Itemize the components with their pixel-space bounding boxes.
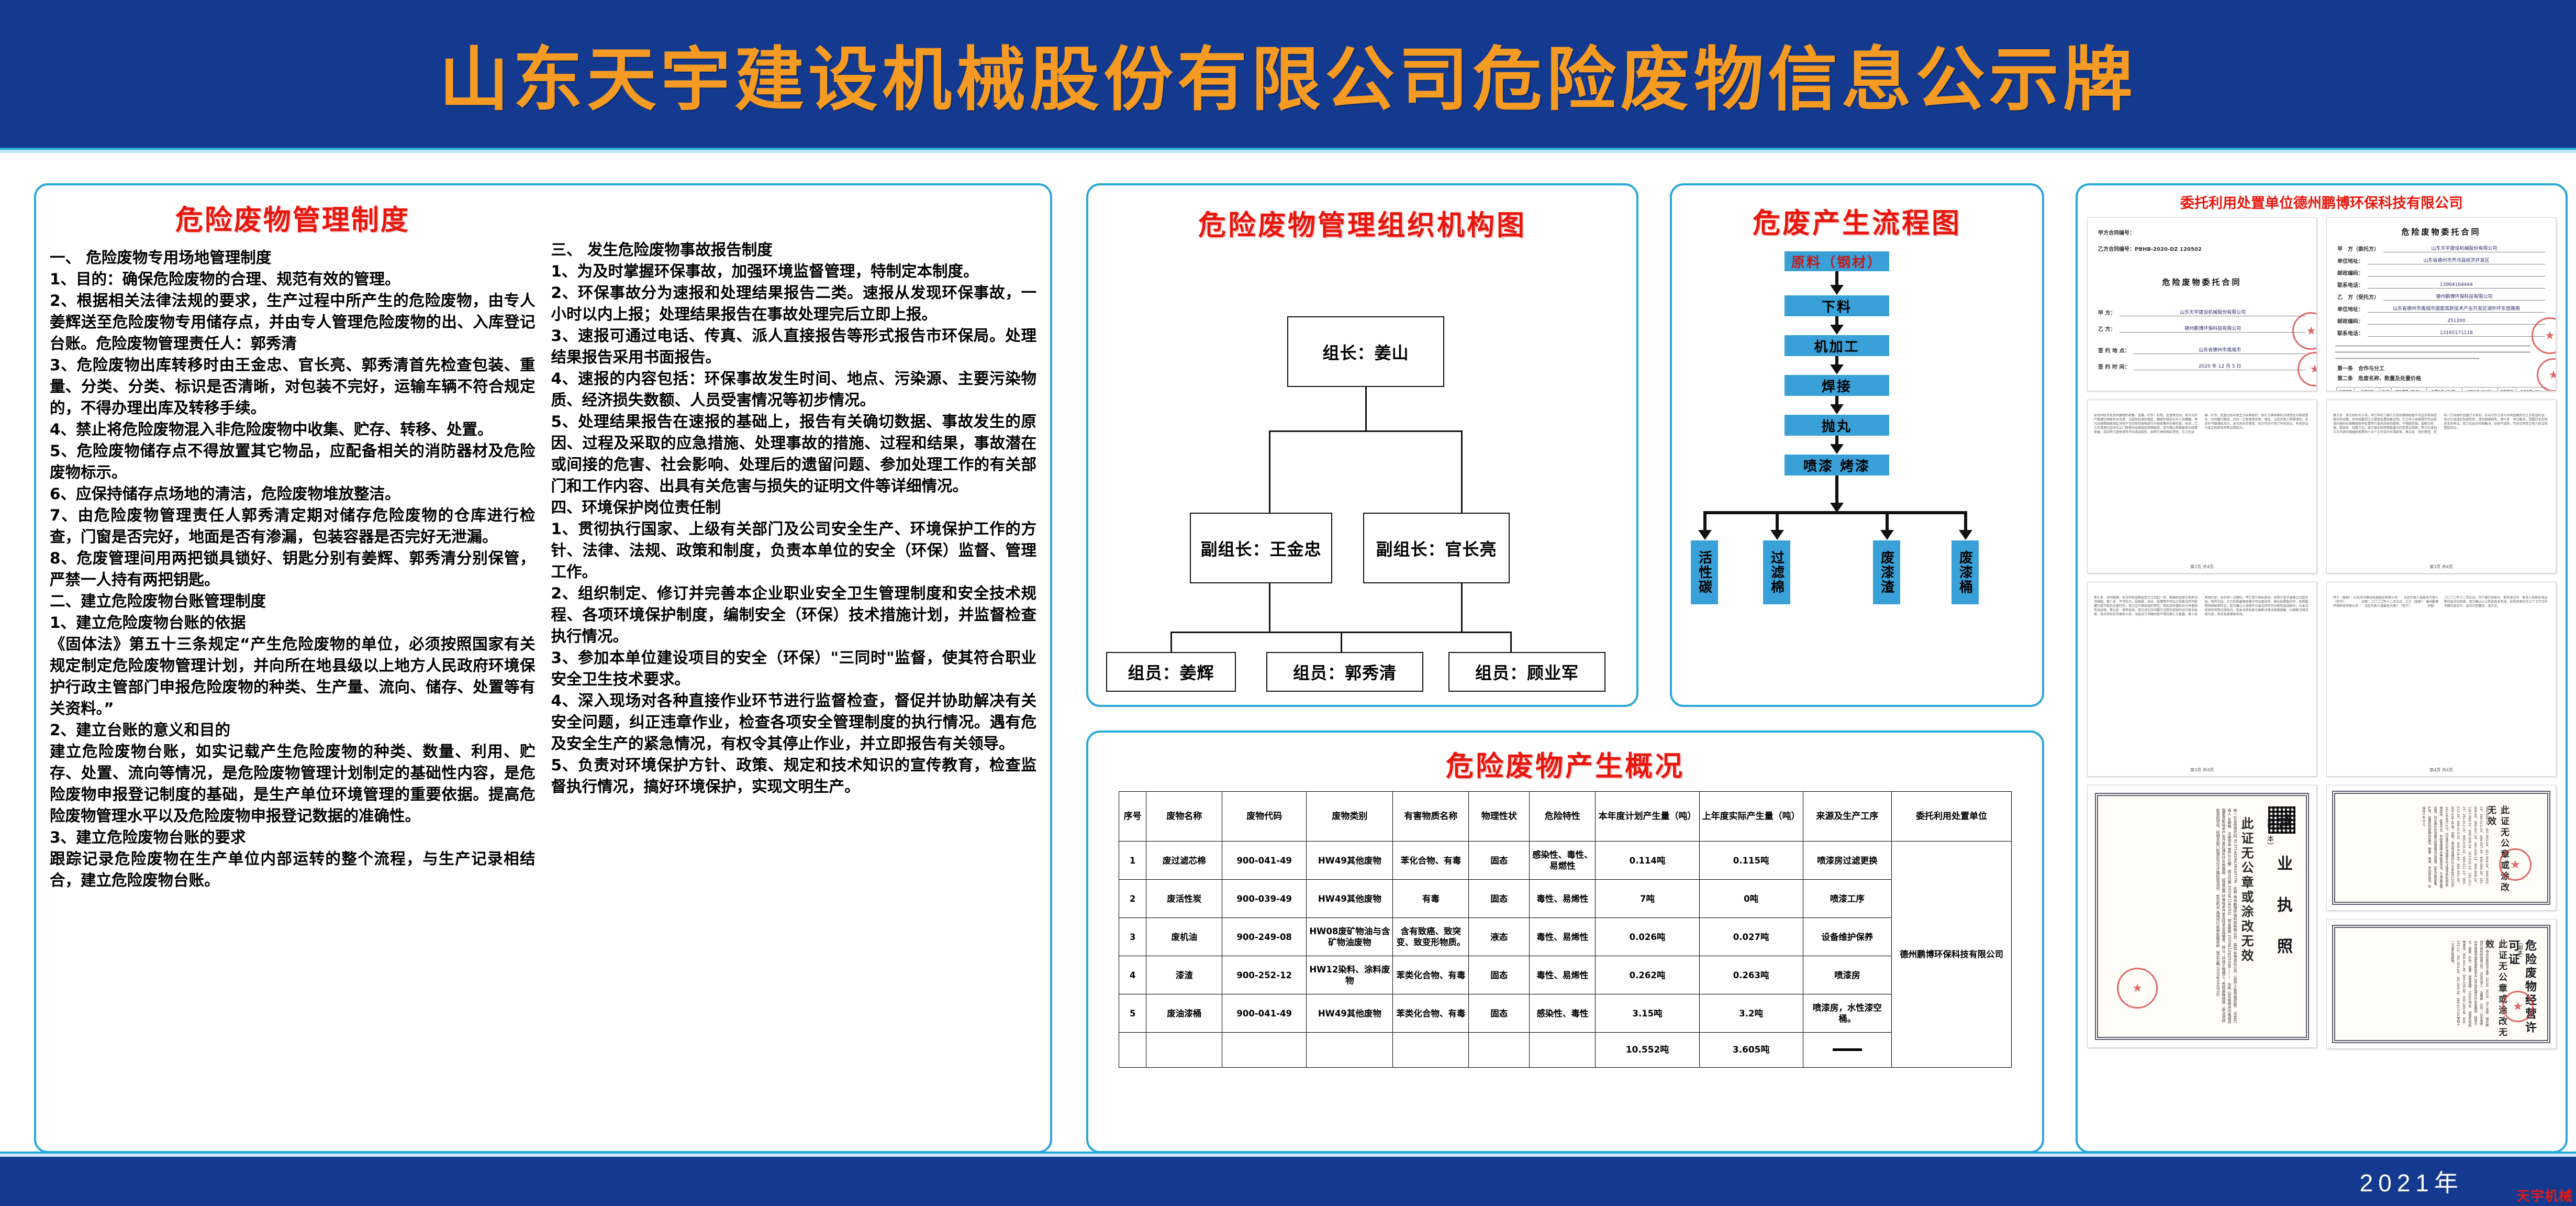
flow-arrow-icon [1698, 530, 1712, 540]
waste-table-head: 序号 废物名称 废物代码 废物类别 有害物质名称 物理性状 危险特性 本年度计划… [1119, 792, 2012, 842]
flow-output-paint-slag: 废漆渣 [1873, 540, 1900, 604]
cell-category: HW49其他废物 [1307, 842, 1393, 880]
rules-para: 1、建立危险废物台账的依据 [50, 612, 536, 634]
text-line [2335, 358, 2479, 359]
flow-arrow-icon [1830, 285, 1844, 295]
rules-column-left: 危险废物管理制度 一、 危险废物专用场地管理制度 1、目的：确保危险废物的合理、… [50, 191, 536, 1151]
cell-code: 900-252-12 [1222, 956, 1307, 994]
rules-para: 5、处理结果报告在速报的基础上，报告有关确切数据、事故发生的原因、过程及采取的应… [551, 411, 1037, 497]
col-hazard: 危险特性 [1530, 792, 1596, 842]
flow-step-cutting: 下料 [1785, 295, 1889, 316]
cell-state: 液态 [1469, 918, 1530, 956]
table-row: 5 废油漆桶 900-041-49 HW49其他废物 苯类化合物、有毒 固态 感… [1119, 994, 2012, 1033]
document-contract-page-1[interactable]: 危险废物委托合同 甲 方（委托方）山东天宇建设机械股份有限公司 单位地址：山东省… [2326, 217, 2556, 391]
footer-brand: 天宇机械 [2516, 1186, 2573, 1205]
public-information-board: 山东天宇建设机械股份有限公司危险废物信息公示牌 危险废物管理制度 一、 危险废物… [0, 0, 2576, 1206]
cell-hazard: 毒性、易烯性 [1530, 880, 1596, 918]
field-label: 单位地址： [2337, 257, 2363, 264]
rules-para: 跟踪记录危险废物在生产单位内部运转的整个流程，与生产记录相结合，建立危险废物台账… [50, 848, 536, 891]
document-permit-stack: 此证无公章或涂改无效 900-000-34、261-003-04、261-004… [2326, 785, 2556, 1049]
permit-subtitle: （副本） [2515, 939, 2523, 960]
cell-total-plan: 10.552吨 [1596, 1033, 1699, 1068]
col-state: 物理性状 [1469, 792, 1530, 842]
org-chart-title: 危险废物管理组织机构图 [1088, 203, 1636, 243]
col-name: 废物名称 [1146, 792, 1222, 842]
cell-substance: 苯化合物、有毒 [1393, 842, 1469, 880]
cell-source: 喷漆房，水性漆空桶。 [1803, 994, 1891, 1033]
table-row: 2 废活性炭 900-039-49 HW49其他废物 有毒 固态 毒性、易烯性 … [1119, 880, 2012, 918]
cell-code: 900-041-49 [1222, 994, 1307, 1033]
rules-para: 《固体法》第五十三条规定“产生危险废物的单位，必须按照国家有关规定制定危险废物管… [50, 634, 536, 720]
flow-connector [1703, 511, 1967, 514]
rules-para: 2、组织制定、修订并完善本企业职业安全卫生管理制度和安全技术规程、各项环境保护制… [551, 583, 1037, 647]
org-node-deputy-2: 副组长：官长亮 [1363, 513, 1510, 583]
flow-step-painting: 喷漆 烤漆 [1785, 455, 1889, 475]
party-a-label: 甲 方： [2098, 308, 2115, 316]
field-label: 邮政编码： [2337, 317, 2363, 325]
cell-plan: 0.026吨 [1596, 918, 1699, 956]
field-value: 13964164444 [2368, 282, 2545, 289]
cell-code: 900-039-49 [1222, 880, 1307, 918]
rules-title: 危险废物管理制度 [50, 198, 536, 238]
cell-total-actual: 3.605吨 [1699, 1033, 1803, 1068]
document-permit-notes[interactable]: 此证无公章或涂改无效 900-000-34、261-003-04、261-004… [2326, 785, 2556, 911]
rules-para: 1、目的：确保危险废物的合理、规范有效的管理。 [50, 269, 536, 290]
cell-category: HW49其他废物 [1307, 880, 1393, 918]
table-header-row: 危废名称 危废代码 形 态 预处置量（吨/年） 处置价格（元/吨） 运输价格（元… [2337, 388, 2546, 392]
org-connector [1365, 387, 1367, 431]
board-footer: 2021年 天宇机械 [0, 1157, 2576, 1206]
field-value: 山东天宇建设机械股份有限公司 [2383, 246, 2545, 252]
rules-para: 3、建立危险废物台账的要求 [50, 827, 536, 848]
flow-arrow-icon [1830, 444, 1844, 454]
org-node-member-2: 组员：郭秀清 [1266, 652, 1423, 692]
org-connector [1510, 632, 1512, 654]
flow-chart-title: 危废产生流程图 [1672, 201, 2042, 241]
org-connector [1170, 632, 1172, 654]
cell-substance: 含有致癌、致突变、致变形物质。 [1393, 918, 1469, 956]
text-line [2335, 351, 2530, 353]
mini-col: 预处置量（吨/年） [2391, 388, 2427, 392]
waste-table-body: 1 废过滤芯棉 900-041-49 HW49其他废物 苯化合物、有毒 固态 感… [1119, 842, 2012, 1068]
org-chart-canvas: 组长：姜山 副组长：王金忠 副组长：官长亮 组员：姜辉 组员：郭秀清 组员：顾业… [1088, 243, 1636, 702]
rules-para: 7、由危险废物管理责任人郭秀清定期对储存危险废物的仓库进行检查，门窗是否完好，地… [50, 505, 536, 548]
document-hazardous-waste-permit[interactable]: 危险废物经营许可证 （副本） 此证无公章或涂改无效 编号：德州危废经许证第（20… [2326, 919, 2556, 1049]
cell-state: 固态 [1469, 956, 1530, 994]
table-total-row: 10.552吨 3.605吨 [1119, 1033, 2012, 1068]
rules-column-right: 三、 发生危险废物事故报告制度 1、为及时掌握环保事故，加强环境监督管理，特制定… [551, 191, 1037, 1151]
cell-actual: 0.115吨 [1699, 842, 1803, 880]
contract-cover-title: 危险废物委托合同 [2088, 276, 2316, 287]
permit-fields: 编号：德州危废经许证第（2020）001号 法人名称：德州鹏博环保科技有限公司 … [2344, 941, 2490, 1027]
cell-state: 固态 [1469, 842, 1530, 880]
org-connector [1269, 430, 1463, 432]
contract-page1-title: 危险废物委托合同 [2327, 226, 2556, 237]
mini-col: 危废名称 [2337, 388, 2355, 392]
col-source: 来源及生产工序 [1803, 792, 1891, 842]
document-business-license[interactable]: 营 业 执 照 （副 本） 此证无公章或涂改无效 统一社会信用代码 913714… [2087, 785, 2317, 1048]
sign-place-value: 山东省德州市禹城市 [2134, 347, 2306, 354]
text-line [2335, 345, 2530, 347]
cell-source: 喷漆房过滤更换 [1803, 842, 1891, 880]
documents-panel-title: 委托利用处置单位德州鹏博环保科技有限公司 [2078, 192, 2566, 212]
cell-code: 900-041-49 [1222, 842, 1307, 880]
cell-no: 1 [1119, 842, 1146, 880]
sign-date-label: 签 约 时 间： [2098, 362, 2129, 370]
mini-col: 运输价格（元/次） [2462, 388, 2498, 392]
contract-no-b-label: 乙方合同编号：PBHB-2020-DZ 120502 [2098, 245, 2202, 252]
table-row: 1 废过滤芯棉 900-041-49 HW49其他废物 苯化合物、有毒 固态 感… [1119, 842, 2012, 880]
cell-no: 3 [1119, 918, 1146, 956]
footer-year: 2021年 [2360, 1164, 2463, 1199]
field-label: 邮政编码： [2337, 269, 2363, 276]
cell-hazard: 感染性、毒性、易燃性 [1530, 842, 1596, 880]
cell-hazard: 感染性、毒性 [1530, 994, 1596, 1033]
rules-para: 四、环境保护岗位责任制 [551, 497, 1037, 518]
cell-actual: 0.027吨 [1699, 918, 1803, 956]
rules-para: 5、负责对环境保护方针、政策、规定和技术知识的宣传教育，检查监督执行情况，搞好环… [551, 755, 1037, 798]
rules-para: 4、深入现场对各种直接作业环节进行监督检查，督促并协助解决有关安全问题，纠正违章… [551, 690, 1037, 755]
cell-empty [1307, 1033, 1393, 1068]
field-label: 甲 方（委托方） [2337, 245, 2379, 252]
waste-table: 序号 废物名称 废物代码 废物类别 有害物质名称 物理性状 危险特性 本年度计划… [1119, 791, 2012, 1068]
flow-chart-canvas: 原料（钢材） 下料 机加工 焊接 抛丸 喷漆 烤漆 [1672, 241, 2042, 705]
document-contract-cover[interactable]: 甲方合同编号： 乙方合同编号：PBHB-2020-DZ 120502 危险废物委… [2087, 217, 2317, 391]
documents-grid: 甲方合同编号： 乙方合同编号：PBHB-2020-DZ 120502 危险废物委… [2078, 217, 2566, 1056]
party-b-label: 乙 方： [2098, 325, 2115, 333]
cell-name: 漆渣 [1146, 956, 1222, 994]
red-seal-icon [2298, 352, 2317, 386]
document-contract-page-3[interactable]: 第三条 双方权利与义务。甲方有权了解乙方危险废物经营许可证的核准范围与有效期，并… [2326, 400, 2556, 573]
cell-empty [1393, 1033, 1469, 1068]
cell-hazard: 毒性、易烯性 [1530, 956, 1596, 994]
board-header: 山东天宇建设机械股份有限公司危险废物信息公示牌 [0, 0, 2576, 148]
permit-notes-frame: 此证无公章或涂改无效 900-000-34、261-003-04、261-004… [2332, 791, 2550, 905]
rules-para: 1、为及时掌握环保事故，加强环境监督管理，特制定本制度。 [551, 261, 1037, 282]
rules-para: 2、环保事故分为速报和处理结果报告二类。速报从发现环保事故，一小时以内上报；处理… [551, 282, 1037, 325]
rules-para: 二、建立危险废物台账管理制度 [50, 591, 536, 612]
cell-empty [1530, 1033, 1596, 1068]
document-page-number: 第3页 共4页 [2088, 767, 2316, 773]
mini-col: 形 态 [2380, 388, 2391, 392]
party-a-value: 山东天宇建设机械股份有限公司 [2120, 309, 2306, 316]
rules-para: 三、 发生危险废物事故报告制度 [551, 239, 1037, 261]
document-contract-page-4[interactable]: 第七条 合同期限。本合同有效期自签订之日起一年，期满后如双方无异议可顺延。第八条… [2087, 582, 2317, 777]
rules-para: 3、速报可通过电话、传真、派人直接报告等形式报告市环保局。处理结果报告采用书面报… [551, 325, 1037, 368]
field-value: 德州鹏博环保科技有限公司 [2383, 294, 2545, 301]
rules-para: 3、危险废物出库转移时由王金忠、官长亮、郭秀清首先检查包装、重量、分类、分类、标… [50, 355, 536, 419]
field-value: 13165171118 [2368, 330, 2545, 337]
license-title: 营 业 执 照 [2271, 814, 2294, 957]
org-connector [1269, 583, 1270, 633]
table-row: 3 废机油 900-249-08 HW08废矿物油与含矿物油废物 含有致癌、致突… [1119, 918, 2012, 956]
field-label: 乙 方（受托方） [2337, 293, 2379, 301]
rules-para: 一、 危险废物专用场地管理制度 [50, 247, 536, 269]
flow-step-machining: 机加工 [1785, 335, 1889, 356]
footer-stripe [0, 1152, 2576, 1157]
red-seal-icon [2292, 312, 2317, 350]
rules-para: 4、速报的内容包括：环保事故发生时间、地点、污染源、主要污染物质、经济损失数额、… [551, 368, 1037, 411]
cell-empty [1222, 1033, 1307, 1068]
rules-para: 8、危废管理间用两把锁具锁好、钥匙分别有姜辉、郭秀清分别保管，严禁一人持有两把钥… [50, 548, 536, 591]
waste-overview-panel: 危险废物产生概况 序号 废物名称 废物代码 废物类别 有害物质名称 物理性状 危… [1086, 731, 2044, 1153]
party-b-value: 德州鹏博环保科技有限公司 [2120, 326, 2306, 333]
field-label: 单位地址： [2337, 305, 2363, 313]
cell-empty [1469, 1033, 1530, 1068]
rules-para: 建立危险废物台账，如实记载产生危险废物的种类、数量、利用、贮存、处置、流向等情况… [50, 741, 536, 827]
cell-category: HW08废矿物油与含矿物油废物 [1307, 918, 1393, 956]
cell-source: 喷漆房 [1803, 956, 1891, 994]
cell-plan: 3.15吨 [1596, 994, 1699, 1033]
flow-step-welding: 焊接 [1785, 375, 1889, 396]
document-body-text: 第三条 双方权利与义务。甲方有权了解乙方危险废物经营许可证的核准范围与有效期，并… [2333, 414, 2549, 567]
col-plan: 本年度计划产生量（吨） [1596, 792, 1699, 842]
cell-state: 固态 [1469, 880, 1530, 918]
field-label: 联系电话： [2337, 281, 2363, 289]
cell-category: HW49其他废物 [1307, 994, 1393, 1033]
mini-col: 危废代码 [2355, 388, 2380, 392]
cell-substance: 有毒 [1393, 880, 1469, 918]
cell-actual: 0吨 [1699, 880, 1803, 918]
permit-notes-text: 900-000-34、261-003-04、261-004-04、900-005… [2344, 806, 2490, 889]
table-row: 4 漆渣 900-252-12 HW12染料、涂料废物 苯类化合物、有毒 固态 … [1119, 956, 2012, 994]
col-code: 废物代码 [1222, 792, 1307, 842]
cell-no: 2 [1119, 880, 1146, 918]
cell-actual: 3.2吨 [1699, 994, 1803, 1033]
page-title: 山东天宇建设机械股份有限公司危险废物信息公示牌 [439, 24, 2137, 124]
license-subtitle: （副 本） [2265, 814, 2274, 849]
license-frame: 营 业 执 照 （副 本） 此证无公章或涂改无效 统一社会信用代码 913714… [2095, 793, 2309, 1040]
rules-para: 6、应保持储存点场地的清洁，危险废物堆放整洁。 [50, 483, 536, 505]
rules-text-right: 三、 发生危险废物事故报告制度 1、为及时掌握环保事故，加强环境监督管理，特制定… [551, 239, 1037, 798]
sign-place-label: 签 约 地 点： [2098, 346, 2129, 354]
flow-chart-panel: 危废产生流程图 原料（钢材） 下料 机加工 焊接 抛丸 喷漆 烤漆 [1670, 183, 2044, 707]
contract-no-a-label: 甲方合同编号： [2098, 228, 2135, 236]
clause-2-label: 第二条 危废名称、数量及处置价格 [2337, 374, 2421, 382]
document-contract-page-2[interactable]: 本合同所涉及危险废物的收集、运输、贮存、利用、处置等活动，双方均应严格遵守国家有… [2087, 400, 2317, 573]
cell-substance: 苯类化合物、有毒 [1393, 956, 1469, 994]
cell-hazard: 毒性、易烯性 [1530, 918, 1596, 956]
col-substance: 有害物质名称 [1393, 792, 1469, 842]
org-connector [1461, 632, 1512, 633]
cell-code: 900-249-08 [1222, 918, 1307, 956]
org-connector [1341, 632, 1342, 654]
waste-table-title: 危险废物产生概况 [1088, 744, 2042, 784]
cell-total-source [1803, 1033, 1891, 1068]
cell-empty [1146, 1033, 1222, 1068]
document-page-number: 第2页 共4页 [2088, 564, 2316, 570]
field-value: 山东省德州市禹城市国家高新技术产业开发区湖外环东首路南 [2368, 306, 2545, 313]
cell-category: HW12染料、涂料废物 [1307, 956, 1393, 994]
field-value: 山东省德州市齐河县经济开发区 [2368, 258, 2545, 264]
field-value: 251200 [2368, 318, 2545, 325]
header-underline [0, 148, 2576, 153]
org-node-member-3: 组员：顾业军 [1448, 652, 1605, 692]
document-page-number: 第3页 共4页 [2327, 564, 2556, 570]
rules-para: 1、贯彻执行国家、上级有关部门及公司安全生产、环境保护工作的方针、法律、法规、政… [551, 518, 1037, 583]
field-value [2368, 270, 2545, 276]
cell-state: 固态 [1469, 994, 1530, 1033]
rules-para: 4、禁止将危险废物混入非危险废物中收集、贮存、转移、处置。 [50, 419, 536, 440]
flow-step-shot-blasting: 抛丸 [1785, 415, 1889, 436]
mini-col: 包装规格 [2498, 388, 2516, 392]
col-disposal: 委托利用处置单位 [1892, 792, 2012, 842]
org-node-deputy-1: 副组长：王金忠 [1190, 513, 1332, 583]
sign-date-value: 2020 年 12 月 5 日 [2134, 363, 2306, 370]
flow-arrow-icon [1830, 364, 1844, 374]
red-seal-icon [2499, 848, 2532, 881]
col-actual: 上年度实际产生量（吨） [1699, 792, 1803, 842]
table-header-row: 序号 废物名称 废物代码 废物类别 有害物质名称 物理性状 危险特性 本年度计划… [1119, 792, 2012, 842]
document-body-text: 第七条 合同期限。本合同有效期自签订之日起一年，期满后如双方无异议可顺延。第八条… [2094, 596, 2310, 770]
clause-1-label: 第一条 合作与分工 [2337, 364, 2384, 372]
cell-disposal-unit: 德州鹏博环保科技有限公司 [1892, 842, 2012, 1068]
cell-substance: 苯类化合物、有毒 [1393, 994, 1469, 1033]
document-body-text: 本合同所涉及危险废物的收集、运输、贮存、利用、处置等活动，双方均应严格遵守国家有… [2094, 414, 2310, 567]
org-connector [1461, 583, 1463, 633]
cell-no: 5 [1119, 994, 1146, 1033]
cell-actual: 0.263吨 [1699, 956, 1803, 994]
rules-text-left: 一、 危险废物专用场地管理制度 1、目的：确保危险废物的合理、规范有效的管理。 … [50, 247, 536, 891]
document-page-number: 第4页 共4页 [2327, 767, 2556, 773]
cell-no: 4 [1119, 956, 1146, 994]
col-category: 废物类别 [1307, 792, 1393, 842]
org-connector [1269, 430, 1270, 514]
cell-name: 废机油 [1146, 918, 1222, 956]
red-seal-icon [2502, 991, 2534, 1022]
cell-name: 废油漆桶 [1146, 994, 1222, 1033]
org-node-leader: 组长：姜山 [1287, 316, 1444, 387]
cell-plan: 0.114吨 [1596, 842, 1699, 880]
flow-arrow-icon [1770, 530, 1784, 540]
dash-icon [1833, 1048, 1862, 1051]
flow-output-paint-bucket: 废漆桶 [1951, 540, 1979, 604]
flow-arrow-icon [1880, 530, 1894, 540]
rules-para: 2、建立台账的意义和目的 [50, 720, 536, 741]
flow-step-raw-material: 原料（钢材） [1785, 251, 1889, 271]
red-seal-icon [2117, 968, 2158, 1009]
flow-output-filter-cotton: 过滤棉 [1763, 540, 1790, 604]
cell-name: 废过滤芯棉 [1146, 842, 1222, 880]
cell-plan: 7吨 [1596, 880, 1699, 918]
rules-para: 2、根据相关法律法规的要求，生产过程中所产生的危险废物，由专人姜辉送至危险废物专… [50, 290, 536, 355]
cell-empty [1119, 1033, 1146, 1068]
contract-price-table: 危废名称 危废代码 形 态 预处置量（吨/年） 处置价格（元/吨） 运输价格（元… [2336, 387, 2546, 391]
document-contract-page-5[interactable]: 甲方（盖章）：山东天宇建设机械股份有限公司 法定代表人或委托代理人（签字）： 日… [2326, 582, 2556, 777]
disposal-unit-documents-panel: 委托利用处置单位德州鹏博环保科技有限公司 甲方合同编号： 乙方合同编号：PBHB… [2076, 183, 2568, 1153]
col-no: 序号 [1119, 792, 1146, 842]
cell-plan: 0.262吨 [1596, 956, 1699, 994]
cell-source: 喷漆工序 [1803, 880, 1891, 918]
cell-name: 废活性炭 [1146, 880, 1222, 918]
flow-arrow-icon [1830, 325, 1844, 335]
flow-output-activated-carbon: 活性碳 [1691, 540, 1718, 604]
license-void-text: 此证无公章或涂改无效 [2237, 817, 2256, 964]
org-node-member-1: 组员：姜辉 [1106, 652, 1236, 692]
org-connector [1170, 632, 1463, 633]
waste-management-rules-panel: 危险废物管理制度 一、 危险废物专用场地管理制度 1、目的：确保危险废物的合理、… [34, 183, 1052, 1153]
field-label: 联系电话： [2337, 329, 2363, 337]
permit-frame: 危险废物经营许可证 （副本） 此证无公章或涂改无效 编号：德州危废经许证第（20… [2332, 925, 2550, 1043]
red-seal-icon [2537, 358, 2556, 391]
document-body-text: 甲方（盖章）：山东天宇建设机械股份有限公司 法定代表人或委托代理人（签字）： 日… [2333, 596, 2549, 770]
cell-source: 设备维护保养 [1803, 918, 1891, 956]
mini-col: 合同金额（元） [2516, 388, 2546, 392]
org-chart-panel: 危险废物管理组织机构图 组长：姜山 副组长：王金忠 副组长：官长亮 组员：姜 [1086, 183, 1638, 707]
mini-col: 处置价格（元/吨） [2427, 388, 2462, 392]
org-connector [1461, 430, 1463, 514]
rules-para: 3、参加本单位建设项目的安全（环保）"三同时"监督，使其符合职业安全卫生技术要求… [551, 647, 1037, 690]
flow-arrow-icon [1959, 530, 1972, 540]
flow-arrow-icon [1830, 404, 1844, 414]
rules-para: 5、危险废物储存点不得放置其它物品，应配备相关的消防器材及危险废物标示。 [50, 440, 536, 483]
